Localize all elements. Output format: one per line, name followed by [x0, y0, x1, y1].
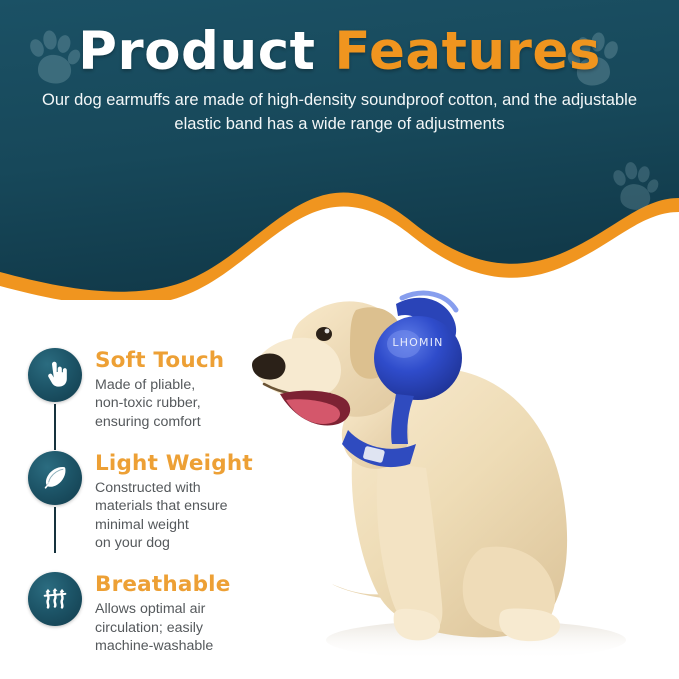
feature-icon-column — [28, 572, 82, 626]
feature-item-light-weight: Light Weight Constructed with materials … — [0, 451, 300, 552]
page-title: Product Features — [0, 0, 679, 80]
feature-item-breathable: Breathable Allows optimal air circulatio… — [0, 572, 300, 655]
title-word-features: Features — [334, 21, 600, 82]
product-features-infographic: Product Features Our dog earmuffs are ma… — [0, 0, 679, 679]
hand-touch-icon — [28, 348, 82, 402]
feature-text-column: Light Weight Constructed with materials … — [82, 451, 253, 552]
page-subtitle: Our dog earmuffs are made of high-densit… — [32, 88, 648, 138]
airflow-icon — [28, 572, 82, 626]
feature-title: Light Weight — [95, 452, 253, 476]
feature-icon-column — [28, 451, 82, 505]
title-word-product: Product — [78, 21, 315, 82]
feature-text-column: Soft Touch Made of pliable, non-toxic ru… — [82, 348, 224, 431]
product-photo-dog-with-earmuffs: LHOMIN — [246, 248, 679, 679]
feature-title: Breathable — [95, 573, 231, 597]
feature-item-soft-touch: Soft Touch Made of pliable, non-toxic ru… — [0, 348, 300, 431]
feature-connector-line — [54, 507, 56, 553]
paw-print-icon — [606, 158, 660, 214]
feature-title: Soft Touch — [95, 349, 224, 373]
feature-description: Made of pliable, non-toxic rubber, ensur… — [95, 376, 224, 431]
feature-description: Constructed with materials that ensure m… — [95, 479, 253, 553]
feature-description: Allows optimal air circulation; easily m… — [95, 600, 231, 655]
feather-icon — [28, 451, 82, 505]
feature-text-column: Breathable Allows optimal air circulatio… — [82, 572, 231, 655]
feature-connector-line — [54, 404, 56, 450]
earmuff-brand-label: LHOMIN — [392, 336, 443, 349]
feature-icon-column — [28, 348, 82, 402]
feature-list: Soft Touch Made of pliable, non-toxic ru… — [0, 348, 300, 655]
